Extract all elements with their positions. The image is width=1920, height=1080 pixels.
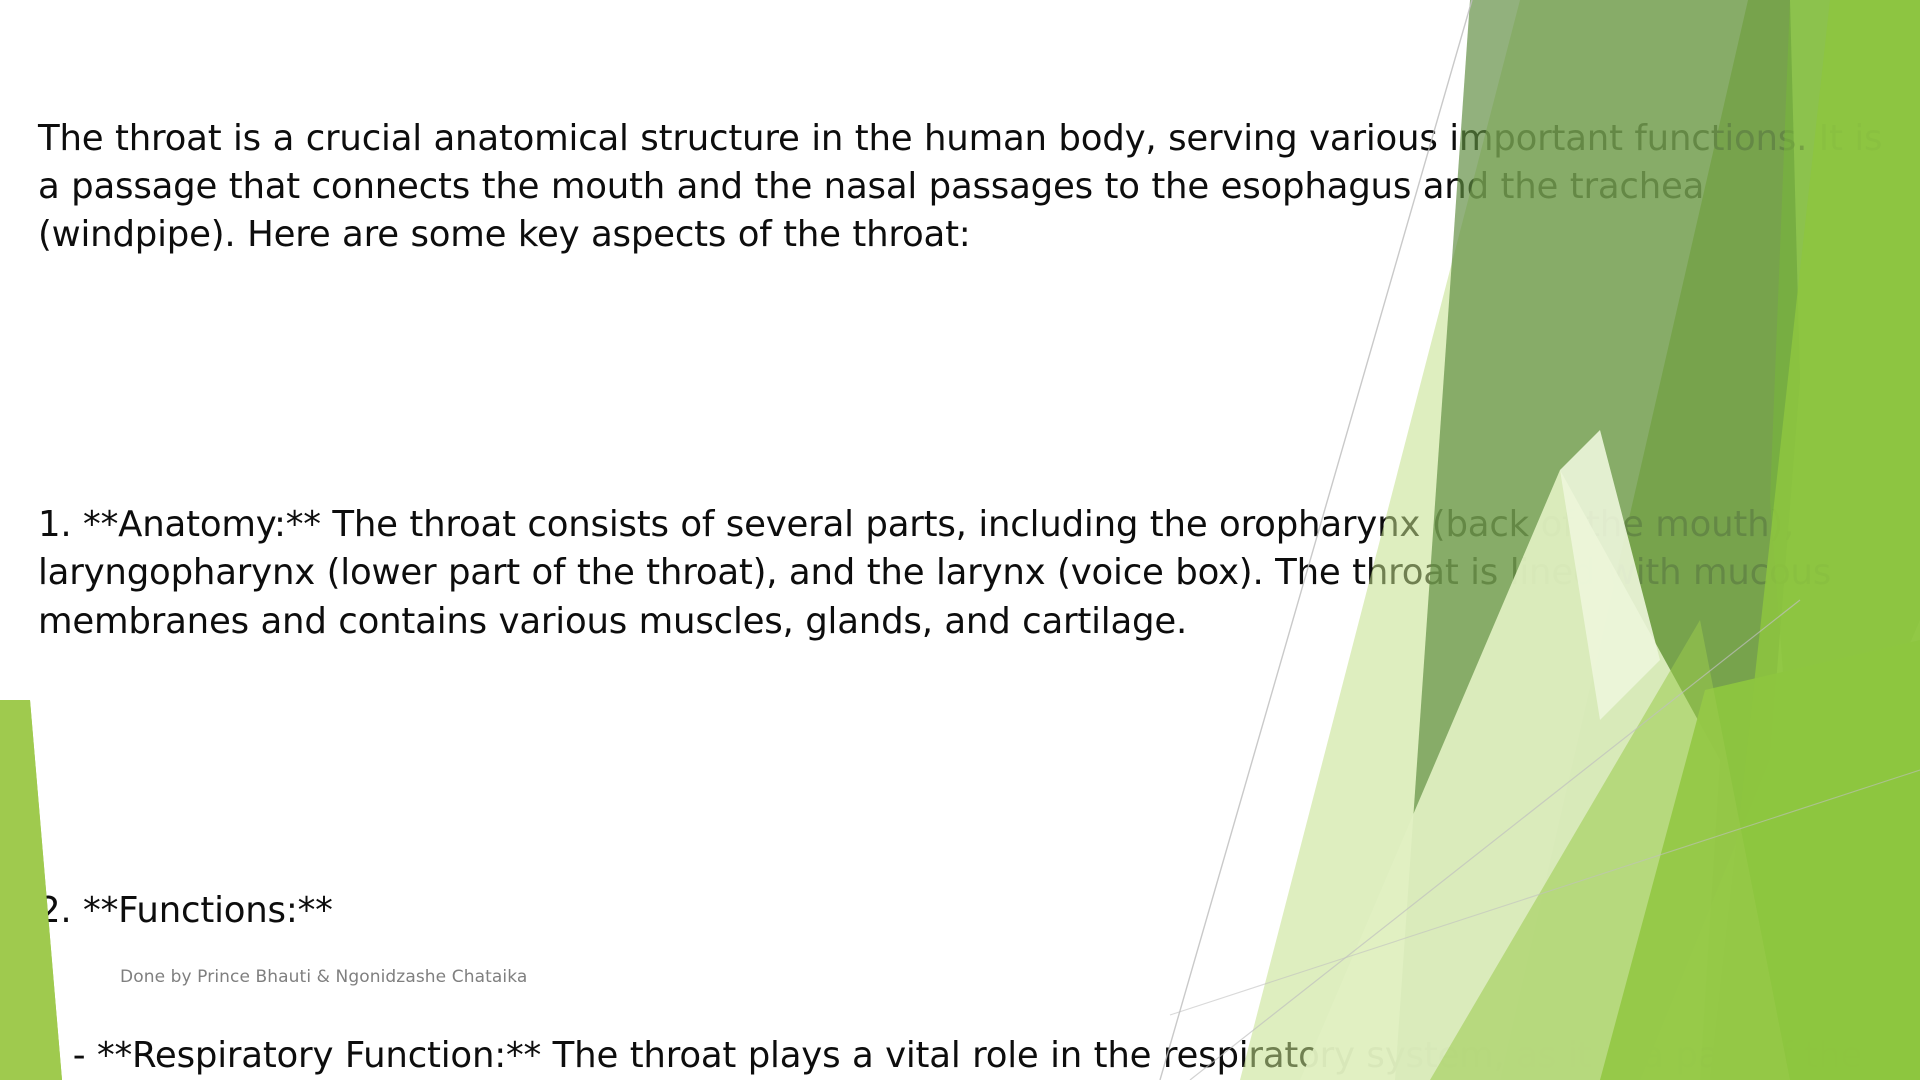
paragraph-spacer-2 (38, 742, 1900, 790)
body-text-block: The throat is a crucial anatomical struc… (38, 18, 1900, 1080)
paragraph-spacer-1 (38, 356, 1900, 404)
footer-credit: Done by Prince Bhauti & Ngonidzashe Chat… (120, 967, 527, 987)
presentation-slide: The throat is a crucial anatomical struc… (0, 0, 1920, 1080)
paragraph-respiratory-function: - **Respiratory Function:** The throat p… (38, 1032, 1900, 1080)
paragraph-functions-heading: 2. **Functions:** (38, 887, 1900, 935)
paragraph-anatomy: 1. **Anatomy:** The throat consists of s… (38, 501, 1900, 646)
slide-content-area: The throat is a crucial anatomical struc… (0, 0, 1920, 1080)
paragraph-intro: The throat is a crucial anatomical struc… (38, 115, 1900, 260)
